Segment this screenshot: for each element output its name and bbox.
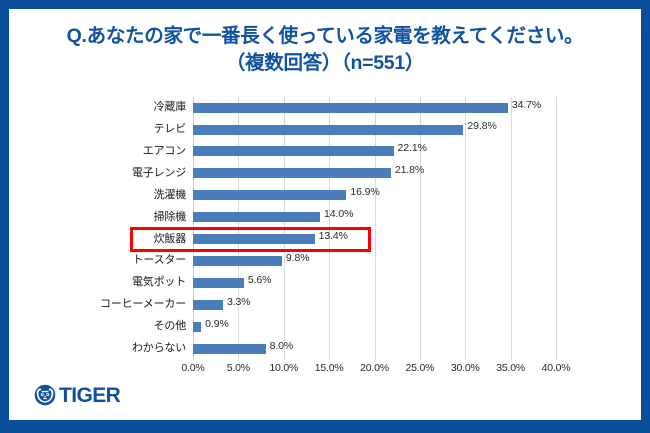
tiger-logo: TIGER — [34, 384, 120, 406]
category-label-row: 電気ポット — [0, 272, 186, 294]
bar-value-label: 13.4% — [319, 230, 348, 242]
category-label-row: コーヒーメーカー — [0, 294, 186, 316]
bar-row: 34.7% — [193, 97, 556, 119]
category-label: 洗濯機 — [6, 185, 186, 207]
category-label: その他 — [6, 316, 186, 338]
x-axis-tick-label: 35.0% — [496, 362, 525, 374]
bar-row: 0.9% — [193, 316, 556, 338]
bar-value-label: 8.0% — [270, 340, 294, 352]
bar-chart: 冷蔵庫テレビエアコン電子レンジ洗濯機掃除機炊飯器トースター電気ポットコーヒーメー… — [0, 0, 650, 433]
category-label-row: その他 — [0, 316, 186, 338]
category-label: コーヒーメーカー — [6, 294, 186, 316]
chart-plot-area: 34.7%29.8%22.1%21.8%16.9%14.0%13.4%9.8%5… — [193, 97, 556, 360]
bar-value-label: 29.8% — [467, 120, 496, 132]
bar — [193, 168, 391, 178]
x-axis-tick-label: 0.0% — [181, 362, 204, 374]
bar-value-label: 0.9% — [205, 318, 229, 330]
category-label-row: 掃除機 — [0, 207, 186, 229]
category-label-row: 炊飯器 — [0, 229, 186, 251]
category-label: トースター — [6, 250, 186, 272]
category-label-row: 洗濯機 — [0, 185, 186, 207]
x-axis-tick-label: 15.0% — [315, 362, 344, 374]
bar — [193, 103, 508, 113]
category-label: 冷蔵庫 — [6, 97, 186, 119]
bar-row: 29.8% — [193, 119, 556, 141]
tiger-logo-wordmark: TIGER — [59, 385, 120, 406]
bar-row: 3.3% — [193, 294, 556, 316]
bar — [193, 300, 223, 310]
bar-value-label: 16.9% — [350, 186, 379, 198]
gridline — [556, 97, 557, 360]
x-axis-tick-label: 20.0% — [360, 362, 389, 374]
bar-row: 21.8% — [193, 163, 556, 185]
bar — [193, 146, 394, 156]
x-axis-tick-label: 25.0% — [405, 362, 434, 374]
category-label: わからない — [6, 338, 186, 360]
bar-row: 8.0% — [193, 338, 556, 360]
bar-value-label: 5.6% — [248, 274, 272, 286]
category-label-row: 冷蔵庫 — [0, 97, 186, 119]
x-axis-tick-label: 5.0% — [227, 362, 250, 374]
bar — [193, 234, 315, 244]
category-label: 電気ポット — [6, 272, 186, 294]
bar-row: 5.6% — [193, 272, 556, 294]
category-label: エアコン — [6, 141, 186, 163]
bar — [193, 322, 201, 332]
bar — [193, 344, 266, 354]
bar-value-label: 3.3% — [227, 296, 251, 308]
x-axis-tick-label: 10.0% — [269, 362, 298, 374]
category-label-row: 電子レンジ — [0, 163, 186, 185]
bar-row: 16.9% — [193, 185, 556, 207]
bar-row: 9.8% — [193, 250, 556, 272]
bar-value-label: 14.0% — [324, 208, 353, 220]
tiger-head-icon — [34, 384, 56, 406]
category-label-row: エアコン — [0, 141, 186, 163]
category-label-row: テレビ — [0, 119, 186, 141]
bar — [193, 256, 282, 266]
category-label: 掃除機 — [6, 207, 186, 229]
category-label: テレビ — [6, 119, 186, 141]
bar — [193, 190, 346, 200]
x-axis-tick-label: 30.0% — [451, 362, 480, 374]
bar-row: 22.1% — [193, 141, 556, 163]
category-label: 炊飯器 — [6, 229, 186, 251]
category-axis-labels: 冷蔵庫テレビエアコン電子レンジ洗濯機掃除機炊飯器トースター電気ポットコーヒーメー… — [0, 97, 186, 360]
category-label: 電子レンジ — [6, 163, 186, 185]
bar — [193, 212, 320, 222]
x-axis-tick-label: 40.0% — [542, 362, 571, 374]
bar-value-label: 22.1% — [398, 142, 427, 154]
bar — [193, 278, 244, 288]
bar-value-label: 21.8% — [395, 164, 424, 176]
bar-value-label: 9.8% — [286, 252, 310, 264]
bar-row: 14.0% — [193, 207, 556, 229]
slide-root: Q.あなたの家で一番長く使っている家電を教えてください。 （複数回答）（n=55… — [0, 0, 650, 433]
bar — [193, 125, 463, 135]
bar-row: 13.4% — [193, 229, 556, 251]
bar-value-label: 34.7% — [512, 99, 541, 111]
category-label-row: わからない — [0, 338, 186, 360]
category-label-row: トースター — [0, 250, 186, 272]
